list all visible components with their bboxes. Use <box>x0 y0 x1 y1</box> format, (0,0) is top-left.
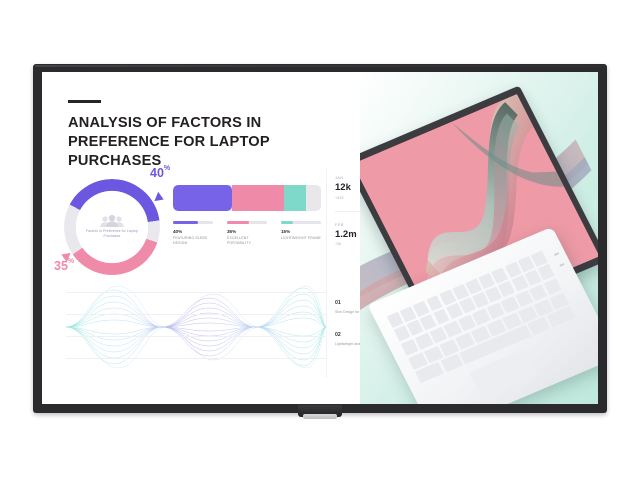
slide-right-pane <box>360 72 598 404</box>
laptop-port <box>554 252 560 256</box>
legend-item: 40% FEATURING SLEEK DESIGN <box>173 221 217 247</box>
title-line-2: PREFERENCE FOR LAPTOP PURCHASES <box>68 133 360 172</box>
legend-mini-fill <box>227 221 249 224</box>
legend-label: LIGHTWEIGHT FRAME <box>281 236 325 241</box>
segment-sleek-design <box>173 185 232 211</box>
vertical-divider <box>326 168 327 378</box>
legend-mini-track <box>281 221 321 224</box>
legend-item: 35% EXCELLENT PORTABILITY <box>227 221 271 247</box>
laptop-port <box>559 263 565 267</box>
bar-legend: 40% FEATURING SLEEK DESIGN 35% EXCELLENT… <box>173 221 325 247</box>
segmented-bar-chart <box>173 185 321 211</box>
people-icon <box>99 215 125 227</box>
title-rule <box>68 100 101 103</box>
laptop-photo <box>360 72 598 404</box>
page-title: ANALYSIS OF FACTORS IN PREFERENCE FOR LA… <box>68 114 360 172</box>
donut-center-label: Factors in Preference for Laptop Purchas… <box>78 229 146 239</box>
donut-center: Factors in Preference for Laptop Purchas… <box>78 193 146 261</box>
segment-portability <box>232 185 284 211</box>
legend-percent: 35% <box>227 229 271 234</box>
legend-mini-track <box>227 221 267 224</box>
title-line-1: ANALYSIS OF FACTORS IN <box>68 114 360 133</box>
legend-mini-fill <box>173 221 198 224</box>
legend-percent: 40% <box>173 229 217 234</box>
legend-item: 15% LIGHTWEIGHT FRAME <box>281 221 325 247</box>
slide-left-pane: ANALYSIS OF FACTORS IN PREFERENCE FOR LA… <box>42 72 360 404</box>
legend-label: FEATURING SLEEK DESIGN <box>173 236 217 247</box>
legend-mini-fill <box>281 221 293 224</box>
monitor-bezel: ANALYSIS OF FACTORS IN PREFERENCE FOR LA… <box>33 64 607 413</box>
donut-arrow-primary-icon <box>154 192 165 204</box>
waveform-gridlines <box>66 284 326 370</box>
screenshot-root: ANALYSIS OF FACTORS IN PREFERENCE FOR LA… <box>0 0 640 480</box>
legend-percent: 15% <box>281 229 325 234</box>
donut-chart: Factors in Preference for Laptop Purchas… <box>64 179 160 275</box>
segment-lightweight <box>284 185 306 211</box>
donut-label-secondary: 35% <box>54 259 74 273</box>
monitor-stand-base <box>303 414 337 419</box>
segment-remainder <box>306 185 321 211</box>
monitor-screen: ANALYSIS OF FACTORS IN PREFERENCE FOR LA… <box>42 72 598 404</box>
slide-canvas: ANALYSIS OF FACTORS IN PREFERENCE FOR LA… <box>42 72 598 404</box>
legend-mini-track <box>173 221 213 224</box>
waveform-visual <box>66 284 326 370</box>
donut-label-primary: 40% <box>150 166 170 180</box>
legend-label: EXCELLENT PORTABILITY <box>227 236 271 247</box>
